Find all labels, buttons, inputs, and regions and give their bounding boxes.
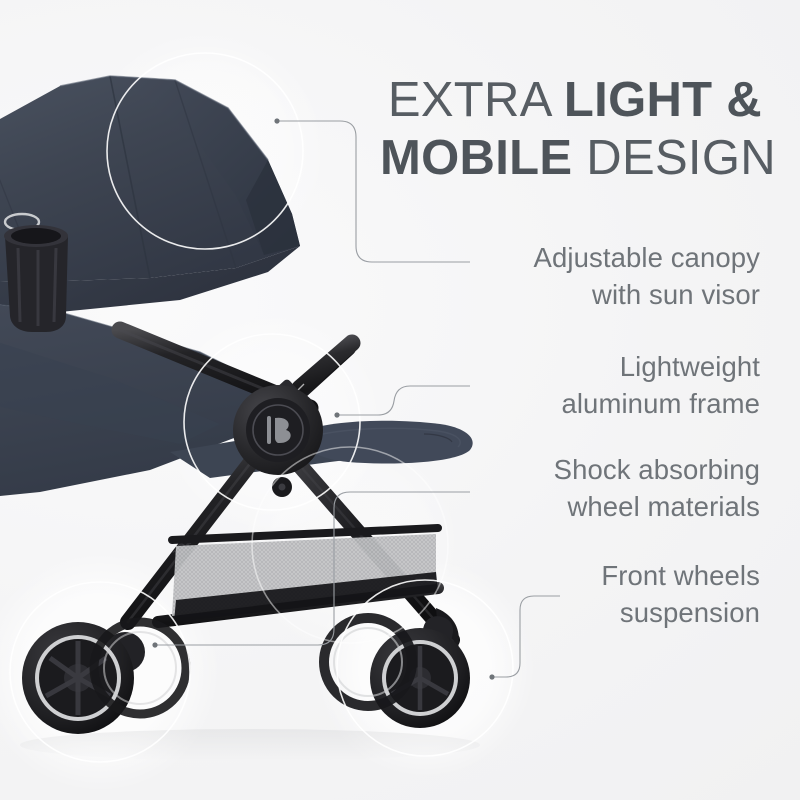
feature-label-front-wheel-suspension: Front wheels suspension xyxy=(430,558,760,631)
headline-line2-light: DESIGN xyxy=(572,131,776,185)
page-title: EXTRA LIGHT & MOBILE DESIGN xyxy=(380,72,762,188)
headline-line1-light: EXTRA xyxy=(388,73,564,127)
headline-line1-bold: LIGHT & xyxy=(564,73,762,127)
feature-label-shock-absorbing-wheels: Shock absorbing wheel materials xyxy=(430,452,760,525)
headline-line2-bold: MOBILE xyxy=(380,131,572,185)
feature-label-adjustable-canopy: Adjustable canopy with sun visor xyxy=(430,240,760,313)
feature-label-lightweight-frame: Lightweight aluminum frame xyxy=(430,349,760,422)
infographic-canvas: JOY xyxy=(0,0,800,800)
